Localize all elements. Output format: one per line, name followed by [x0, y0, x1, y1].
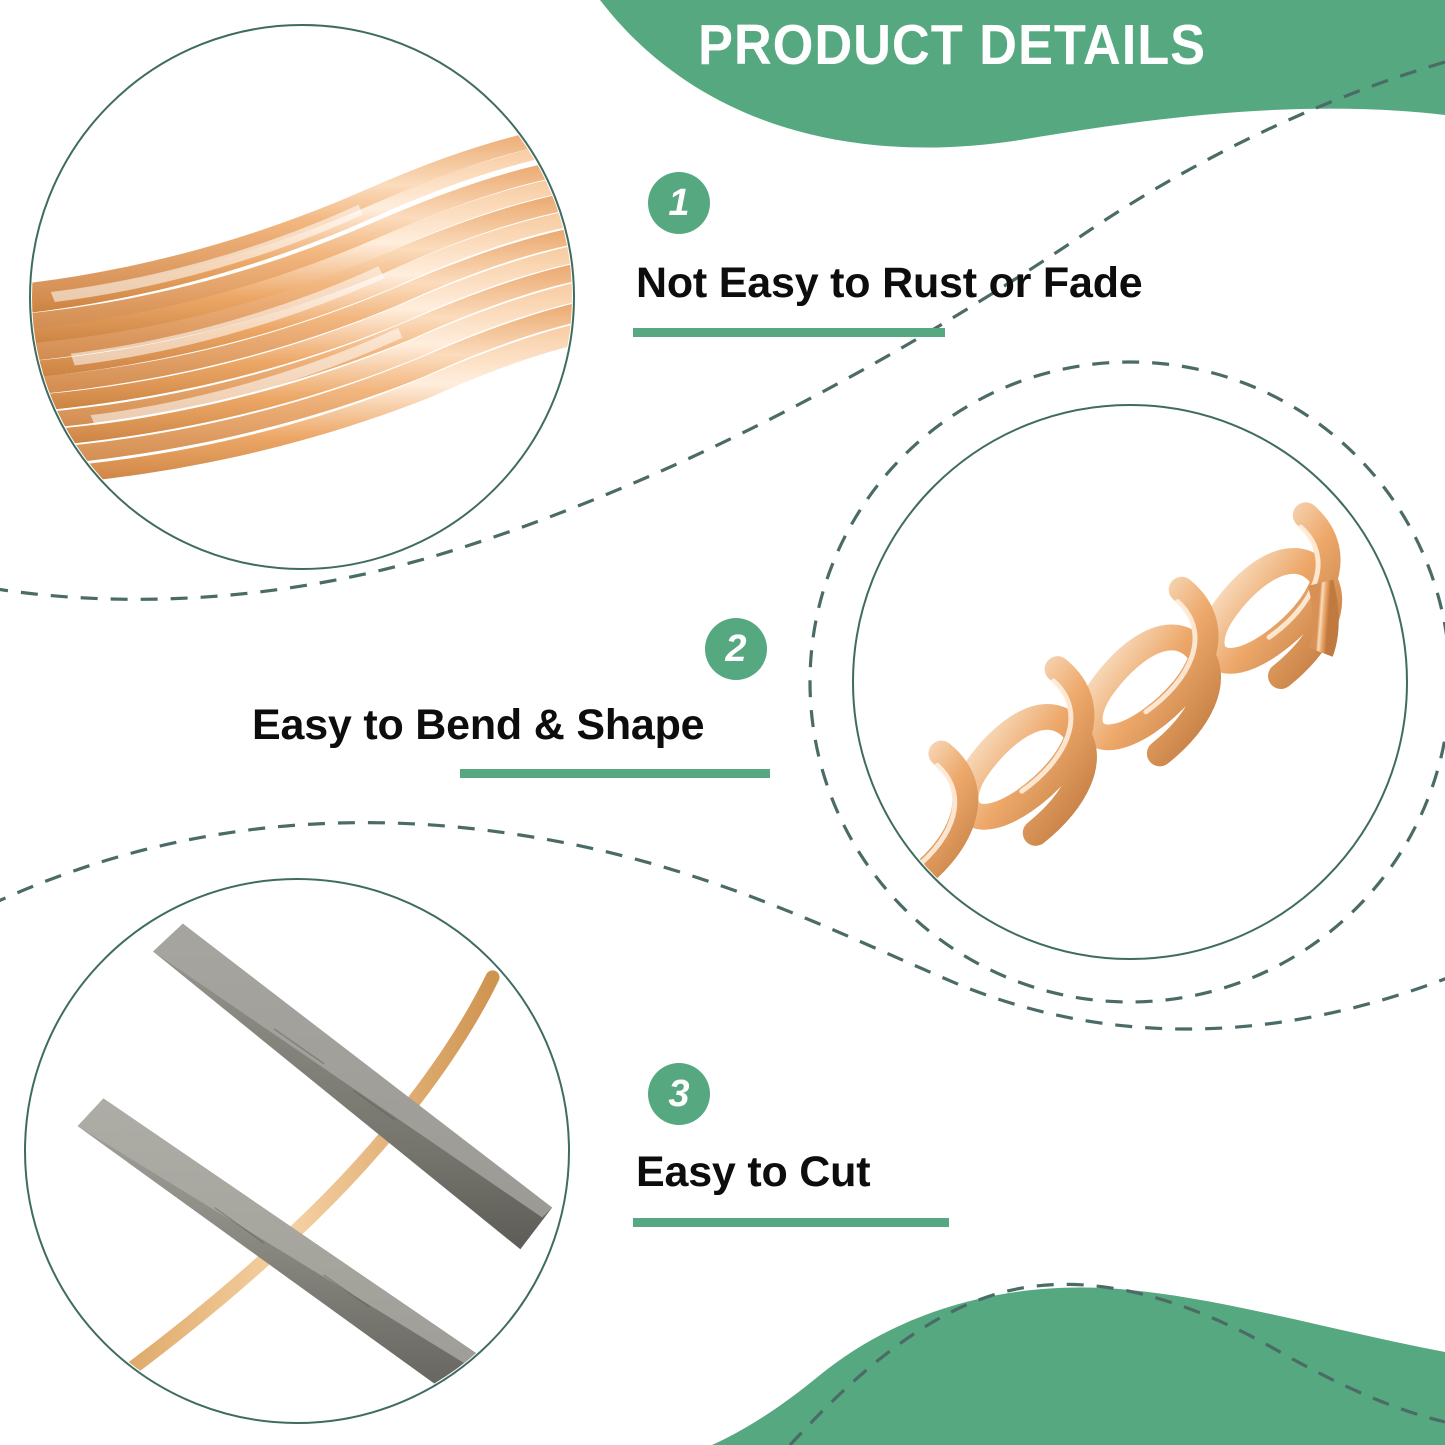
copper-spring-illustration [854, 406, 1406, 958]
feature-underline-2 [460, 769, 770, 778]
feature-title-2: Easy to Bend & Shape [252, 701, 704, 750]
feature-underline-3 [633, 1218, 949, 1227]
photo-wire-cutting [24, 878, 570, 1424]
copper-wire-coil-illustration [31, 26, 573, 568]
feature-title-3: Easy to Cut [636, 1148, 870, 1197]
feature-badge-2: 2 [705, 618, 767, 680]
infographic-canvas: PRODUCT DETAILS [0, 0, 1445, 1445]
page-title: PRODUCT DETAILS [658, 12, 1247, 78]
feature-badge-3: 3 [648, 1063, 710, 1125]
wire-cutting-illustration [26, 880, 568, 1422]
feature-title-1: Not Easy to Rust or Fade [636, 259, 1143, 308]
photo-copper-spring-coil [852, 404, 1408, 960]
photo-copper-wire-coil [29, 24, 575, 570]
feature-badge-1: 1 [648, 172, 710, 234]
feature-underline-1 [633, 328, 945, 337]
footer-wave-shape [712, 1288, 1445, 1445]
